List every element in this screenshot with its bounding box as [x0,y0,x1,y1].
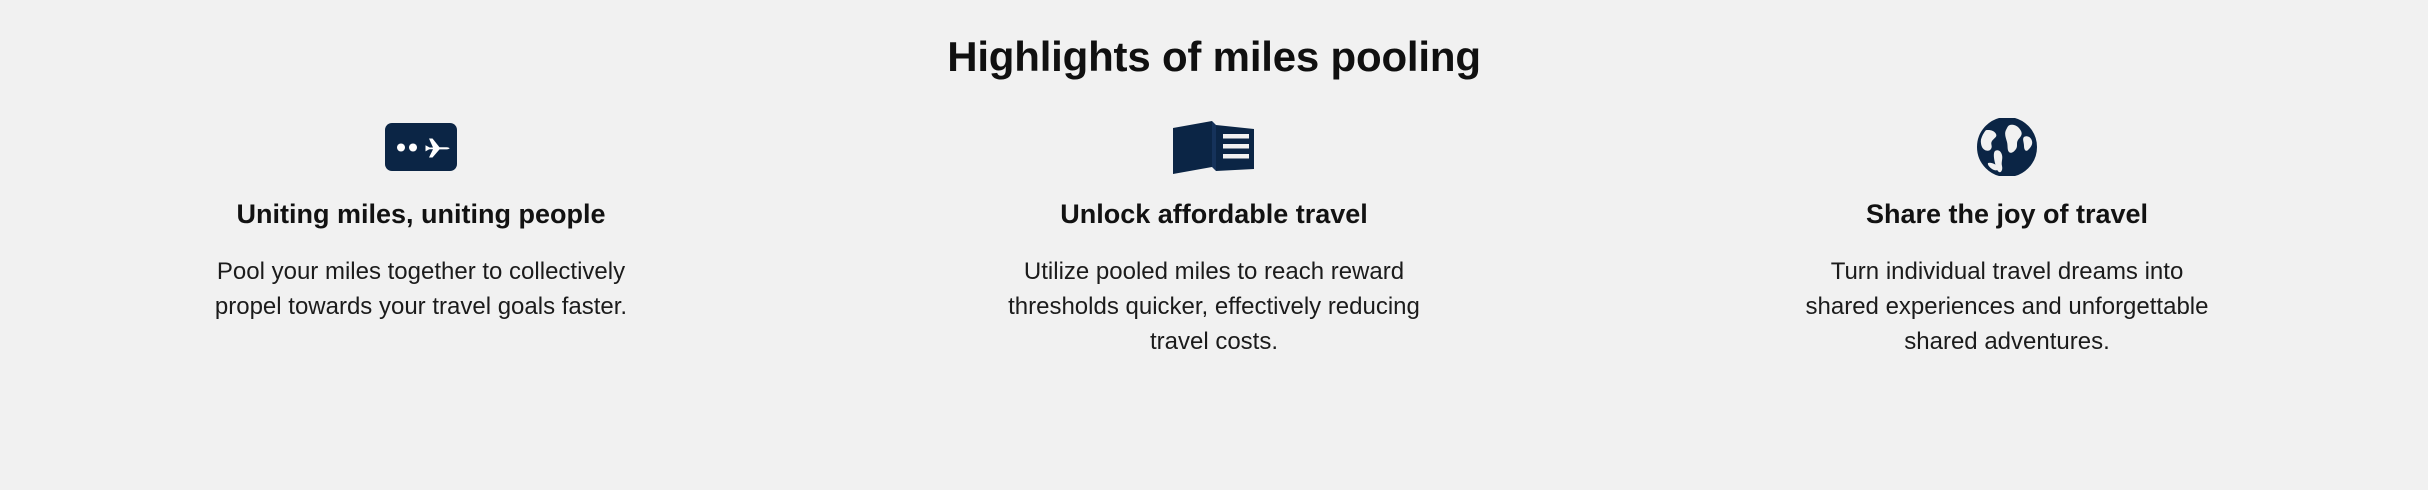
highlight-cards-row: Uniting miles, uniting people Pool your … [0,118,2428,359]
boarding-pass-plane-icon [385,118,457,176]
miles-pooling-highlights-section: Highlights of miles pooling Uniting mile… [0,0,2428,490]
highlight-card-uniting-miles: Uniting miles, uniting people Pool your … [25,118,818,324]
highlight-card-share-joy: Share the joy of travel Turn individual … [1611,118,2404,359]
highlight-card-affordable-travel: Unlock affordable travel Utilize pooled … [818,118,1611,359]
highlight-card-text: Pool your miles together to collectively… [211,232,631,324]
open-book-icon [1170,118,1258,176]
highlight-card-title: Unlock affordable travel [1060,176,1368,232]
highlight-card-title: Uniting miles, uniting people [237,176,606,232]
highlight-card-text: Utilize pooled miles to reach reward thr… [1004,232,1424,359]
globe-icon [1970,118,2044,176]
page-title: Highlights of miles pooling [947,0,1481,82]
highlight-card-text: Turn individual travel dreams into share… [1797,232,2217,359]
highlight-card-title: Share the joy of travel [1866,176,2148,232]
